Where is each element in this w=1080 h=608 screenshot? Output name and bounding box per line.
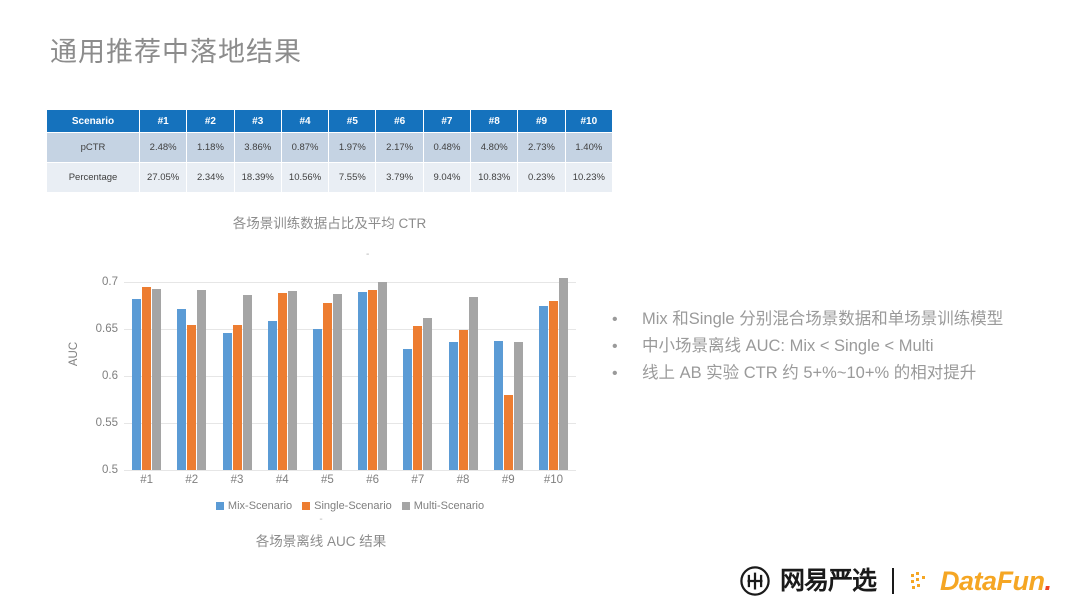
bullet-text: 中小场景离线 AUC: Mix < Single < Multi (642, 335, 934, 359)
table-cell: 0.23% (518, 163, 565, 193)
table-cell: 1.40% (565, 133, 612, 163)
chart-legend-swatch (216, 502, 224, 510)
chart-x-tick-label: #8 (440, 474, 485, 486)
bullet-list: •Mix 和Single 分别混合场景数据和单场景训练模型•中小场景离线 AUC… (612, 308, 1062, 389)
chart-x-tick-label: #2 (169, 474, 214, 486)
chart-bar (288, 291, 297, 470)
table-cell: 2.34% (187, 163, 234, 193)
chart-bar (494, 341, 503, 470)
chart-x-tick-label: #3 (214, 474, 259, 486)
footer-logos: 网易严选 DataFun. (740, 566, 1052, 596)
table-cell: 2.17% (376, 133, 423, 163)
table-header-c10: #10 (565, 110, 612, 133)
datafun-label: DataFun (940, 566, 1045, 596)
chart-bar (504, 395, 513, 470)
chart-x-tick-label: #1 (124, 474, 169, 486)
table-cell: 3.79% (376, 163, 423, 193)
chart-bar (539, 306, 548, 470)
table-header-c6: #6 (376, 110, 423, 133)
bullet-marker-icon: • (612, 339, 642, 355)
bullet-item: •Mix 和Single 分别混合场景数据和单场景训练模型 (612, 308, 1062, 332)
chart-legend: Mix-ScenarioSingle-ScenarioMulti-Scenari… (124, 500, 576, 512)
chart-bar (549, 301, 558, 470)
chart-bar (403, 349, 412, 470)
table-cell: 18.39% (234, 163, 281, 193)
chart-bar (413, 326, 422, 470)
chart-x-tick-label: #4 (260, 474, 305, 486)
chart-legend-swatch (302, 502, 310, 510)
chart-bar (187, 325, 196, 470)
chart-bar-group (169, 282, 214, 470)
chart-legend-item: Single-Scenario (302, 500, 392, 512)
chart-bar (469, 297, 478, 470)
chart-bar-group (124, 282, 169, 470)
chart-bar (152, 289, 161, 470)
chart-y-tick-label: 0.7 (102, 276, 118, 288)
table-row: pCTR 2.48% 1.18% 3.86% 0.87% 1.97% 2.17%… (47, 133, 613, 163)
chart-bar (142, 287, 151, 470)
table-header-row: Scenario #1 #2 #3 #4 #5 #6 #7 #8 #9 #10 (47, 110, 613, 133)
table-cell: 4.80% (471, 133, 518, 163)
chart-bar-group (350, 282, 395, 470)
table-cell: 27.05% (140, 163, 187, 193)
chart-bar (177, 309, 186, 470)
scenario-metrics-table: Scenario #1 #2 #3 #4 #5 #6 #7 #8 #9 #10 … (46, 109, 613, 193)
chart-bar (368, 290, 377, 470)
bullet-marker-icon: • (612, 366, 642, 382)
datafun-logo-text: DataFun. (940, 568, 1052, 595)
chart-legend-swatch (402, 502, 410, 510)
chart-bar-group (395, 282, 440, 470)
chart-bar (197, 290, 206, 470)
chart-legend-label: Single-Scenario (314, 500, 392, 512)
table-header-c1: #1 (140, 110, 187, 133)
chart-y-tick-label: 0.55 (96, 417, 118, 429)
table-header-c9: #9 (518, 110, 565, 133)
table-cell: 3.86% (234, 133, 281, 163)
chart-bar (323, 303, 332, 470)
chart-bar (243, 295, 252, 470)
table-cell: 2.73% (518, 133, 565, 163)
table-cell: 0.48% (423, 133, 470, 163)
chart-x-tick-label: #9 (486, 474, 531, 486)
chart-y-tick-label: 0.65 (96, 323, 118, 335)
y-axis-title: AUC (68, 334, 80, 374)
netease-logo-text: 网易严选 (780, 569, 876, 594)
table-cell: 10.23% (565, 163, 612, 193)
bullet-item: •中小场景离线 AUC: Mix < Single < Multi (612, 335, 1062, 359)
chart-bar (333, 294, 342, 470)
table-header-c4: #4 (281, 110, 328, 133)
chart-top-tick-mark: - (366, 252, 369, 258)
chart-bar (132, 299, 141, 470)
table-cell: 9.04% (423, 163, 470, 193)
chart-bar (358, 292, 367, 470)
chart-bar-group (214, 282, 259, 470)
netease-logo-icon (740, 566, 770, 596)
table-header-c5: #5 (329, 110, 376, 133)
chart-bar (378, 282, 387, 470)
datafun-dot: . (1045, 566, 1052, 596)
chart-legend-label: Mix-Scenario (228, 500, 292, 512)
chart-caption: 各场景离线 AUC 结果 (56, 530, 586, 550)
chart-bar-group (305, 282, 350, 470)
chart-x-tick-label: #5 (305, 474, 350, 486)
chart-bar-group (486, 282, 531, 470)
table-header-c3: #3 (234, 110, 281, 133)
chart-x-tick-label: #7 (395, 474, 440, 486)
chart-bar-group (531, 282, 576, 470)
chart-bar (459, 330, 468, 470)
chart-caption-tick-mark: - (56, 516, 586, 524)
chart-legend-item: Mix-Scenario (216, 500, 292, 512)
table-caption: 各场景训练数据占比及平均 CTR (46, 212, 613, 232)
bullet-marker-icon: • (612, 312, 642, 328)
chart-bar (223, 333, 232, 470)
chart-bar (278, 293, 287, 470)
chart-legend-label: Multi-Scenario (414, 500, 484, 512)
chart-y-tick-label: 0.6 (102, 370, 118, 382)
table-header-c2: #2 (187, 110, 234, 133)
table-row-label-pctr: pCTR (47, 133, 140, 163)
chart-bar (559, 278, 568, 470)
chart-bar (449, 342, 458, 470)
table-header-c7: #7 (423, 110, 470, 133)
chart-bar (268, 321, 277, 470)
table-cell: 7.55% (329, 163, 376, 193)
table-header-c8: #8 (471, 110, 518, 133)
auc-bar-chart: - AUC 0.70.650.60.550.5 #1#2#3#4#5#6#7#8… (56, 252, 586, 522)
chart-bars-layer (124, 282, 576, 470)
chart-bar (233, 325, 242, 470)
logo-divider (892, 568, 894, 594)
page-title: 通用推荐中落地结果 (50, 30, 302, 69)
chart-legend-item: Multi-Scenario (402, 500, 484, 512)
table-row: Percentage 27.05% 2.34% 18.39% 10.56% 7.… (47, 163, 613, 193)
table-cell: 10.83% (471, 163, 518, 193)
chart-y-tick-label: 0.5 (102, 464, 118, 476)
chart-gridline: 0.5 (124, 470, 576, 471)
table-cell: 0.87% (281, 133, 328, 163)
table-cell: 1.18% (187, 133, 234, 163)
bullet-text: Mix 和Single 分别混合场景数据和单场景训练模型 (642, 308, 1003, 332)
chart-bar (514, 342, 523, 470)
table-cell: 10.56% (281, 163, 328, 193)
chart-bar (313, 329, 322, 470)
chart-bar-group (440, 282, 485, 470)
table-header-scenario: Scenario (47, 110, 140, 133)
chart-x-tick-label: #10 (531, 474, 576, 486)
datafun-dots-icon (910, 571, 930, 591)
chart-x-axis-labels: #1#2#3#4#5#6#7#8#9#10 (124, 474, 576, 486)
bullet-text: 线上 AB 实验 CTR 约 5+%~10+% 的相对提升 (642, 362, 976, 386)
chart-bar (423, 318, 432, 470)
chart-bar-group (260, 282, 305, 470)
table-cell: 1.97% (329, 133, 376, 163)
chart-plot-area: 0.70.650.60.550.5 (124, 282, 576, 470)
chart-x-tick-label: #6 (350, 474, 395, 486)
bullet-item: •线上 AB 实验 CTR 约 5+%~10+% 的相对提升 (612, 362, 1062, 386)
table-cell: 2.48% (140, 133, 187, 163)
table-row-label-percentage: Percentage (47, 163, 140, 193)
